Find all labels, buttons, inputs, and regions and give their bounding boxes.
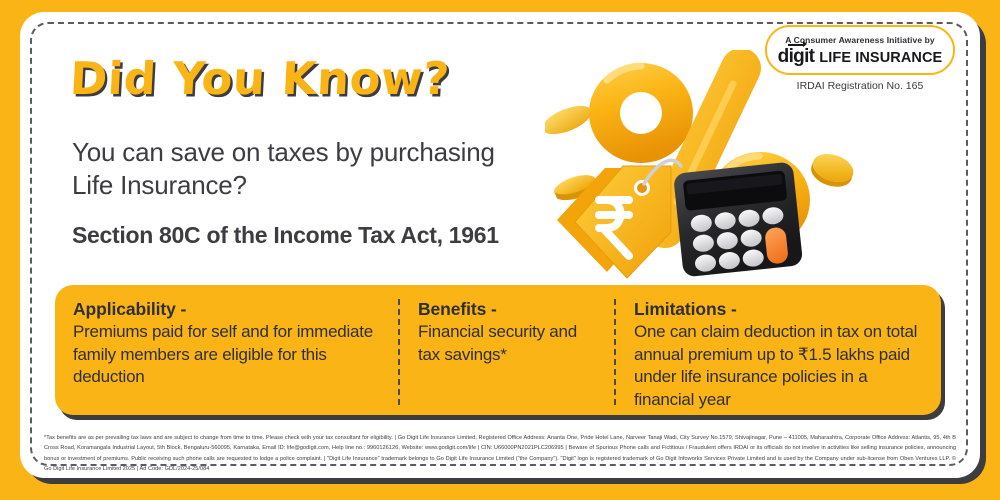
legal-disclaimer: *Tax benefits are as per prevailing tax … [44,433,956,474]
info-column-body: Premiums paid for self and for immediate… [73,321,380,389]
info-column-limitations: Limitations - One can claim deduction in… [616,299,941,405]
calculator-icon [673,161,803,277]
subheadline: You can save on taxes by purchasing Life… [72,136,542,202]
headline: Did You Know? [69,56,451,101]
section-reference: Section 80C of the Income Tax Act, 1961 [72,222,499,249]
poster-root: A Consumer Awareness Initiative by digit… [0,0,1000,500]
info-column-body: Financial security and tax savings* [418,321,596,366]
info-column-title: Benefits - [418,299,596,320]
info-column-title: Applicability - [73,299,380,320]
info-column-applicability: Applicability - Premiums paid for self a… [55,299,400,405]
info-column-title: Limitations - [634,299,923,320]
logo-kicker-text: A Consumer Awareness Initiative by [785,35,935,45]
info-column-benefits: Benefits - Financial security and tax sa… [400,299,616,405]
info-column-body: One can claim deduction in tax on total … [634,321,923,411]
info-box: Applicability - Premiums paid for self a… [55,285,941,415]
digit-bar-arrow-icon [788,44,805,47]
tax-savings-illustration [545,50,865,290]
